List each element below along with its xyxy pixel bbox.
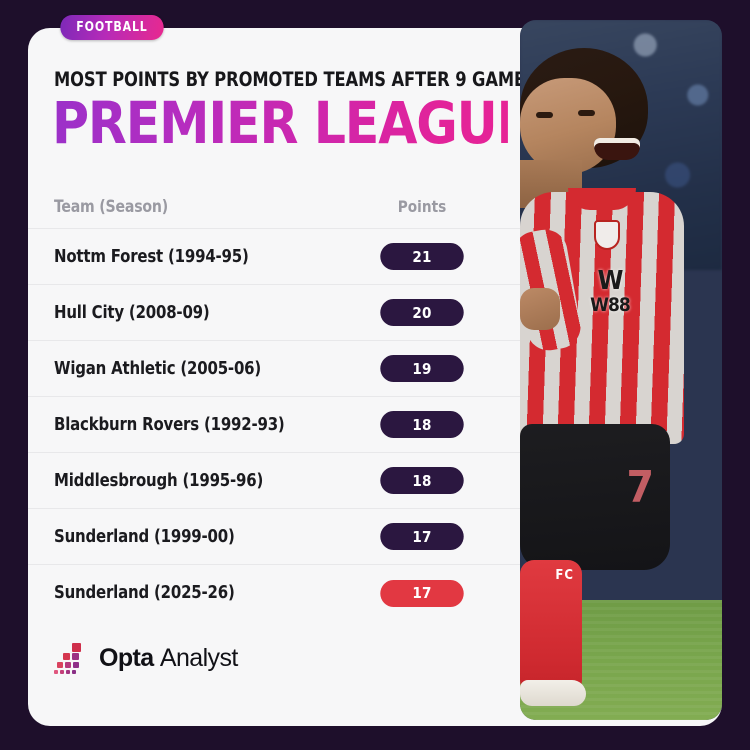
- player-shorts: 7: [520, 424, 670, 570]
- table-row[interactable]: Blackburn Rovers (1992-93) 18: [28, 397, 520, 453]
- page-title: PREMIER LEAGUE: [52, 92, 508, 154]
- column-header-team: Team (Season): [54, 197, 168, 216]
- points-badge: 20: [380, 299, 463, 326]
- brand-footer: Opta Analyst: [54, 640, 238, 676]
- table-row[interactable]: Nottm Forest (1994-95) 21: [28, 229, 520, 285]
- shirt-sponsor-text: W W88: [568, 270, 652, 316]
- kicker-text: MOST POINTS BY PROMOTED TEAMS AFTER 9 GA…: [54, 68, 473, 91]
- points-cell: 18: [365, 467, 479, 494]
- points-badge: 17: [380, 523, 463, 550]
- points-cell: 19: [365, 355, 479, 382]
- points-badge: 21: [380, 243, 463, 270]
- team-season-label: Wigan Athletic (2005-06): [54, 359, 261, 379]
- team-season-label: Nottm Forest (1994-95): [54, 247, 249, 267]
- table-row-highlighted[interactable]: Sunderland (2025-26) 17: [28, 565, 520, 621]
- team-season-label: Hull City (2008-09): [54, 303, 210, 323]
- club-crest-icon: [594, 220, 620, 250]
- sponsor-top: W: [598, 266, 623, 296]
- points-cell: 17: [365, 523, 479, 550]
- brand-wordmark: Opta Analyst: [99, 644, 238, 673]
- column-header-points: Points: [368, 197, 476, 216]
- player-sock: FC: [520, 560, 582, 700]
- eye-left-icon: [536, 112, 553, 118]
- team-season-label: Sunderland (1999-00): [54, 527, 235, 547]
- table-row[interactable]: Middlesbrough (1995-96) 18: [28, 453, 520, 509]
- eye-right-icon: [578, 110, 595, 116]
- player-photo: W W88 7 FC: [520, 20, 722, 720]
- points-badge: 19: [380, 355, 463, 382]
- points-badge-highlighted: 17: [380, 580, 463, 607]
- table-row[interactable]: Wigan Athletic (2005-06) 19: [28, 341, 520, 397]
- category-badge[interactable]: FOOTBALL: [60, 15, 163, 40]
- content-column: MOST POINTS BY PROMOTED TEAMS AFTER 9 GA…: [28, 28, 520, 726]
- points-badge: 18: [380, 467, 463, 494]
- sock-text: FC: [555, 568, 574, 583]
- player-open-mouth: [594, 138, 640, 160]
- sponsor-bottom: W88: [568, 294, 652, 316]
- opta-staircase-logo-icon: [54, 640, 88, 676]
- shirt-number: 7: [626, 462, 654, 513]
- player-boot: [520, 680, 586, 706]
- table-row[interactable]: Hull City (2008-09) 20: [28, 285, 520, 341]
- player-fist: [520, 288, 560, 330]
- brand-name-bold: Opta: [99, 644, 154, 672]
- points-badge: 18: [380, 411, 463, 438]
- points-cell: 20: [365, 299, 479, 326]
- team-season-label: Sunderland (2025-26): [54, 583, 235, 603]
- points-table: Team (Season) Points Nottm Forest (1994-…: [28, 185, 520, 621]
- brand-name-light: Analyst: [160, 644, 238, 672]
- points-cell: 21: [365, 243, 479, 270]
- team-season-label: Blackburn Rovers (1992-93): [54, 415, 285, 435]
- table-row[interactable]: Sunderland (1999-00) 17: [28, 509, 520, 565]
- points-cell: 18: [365, 411, 479, 438]
- table-header-row: Team (Season) Points: [28, 185, 520, 229]
- team-season-label: Middlesbrough (1995-96): [54, 471, 263, 491]
- points-cell: 17: [365, 580, 479, 607]
